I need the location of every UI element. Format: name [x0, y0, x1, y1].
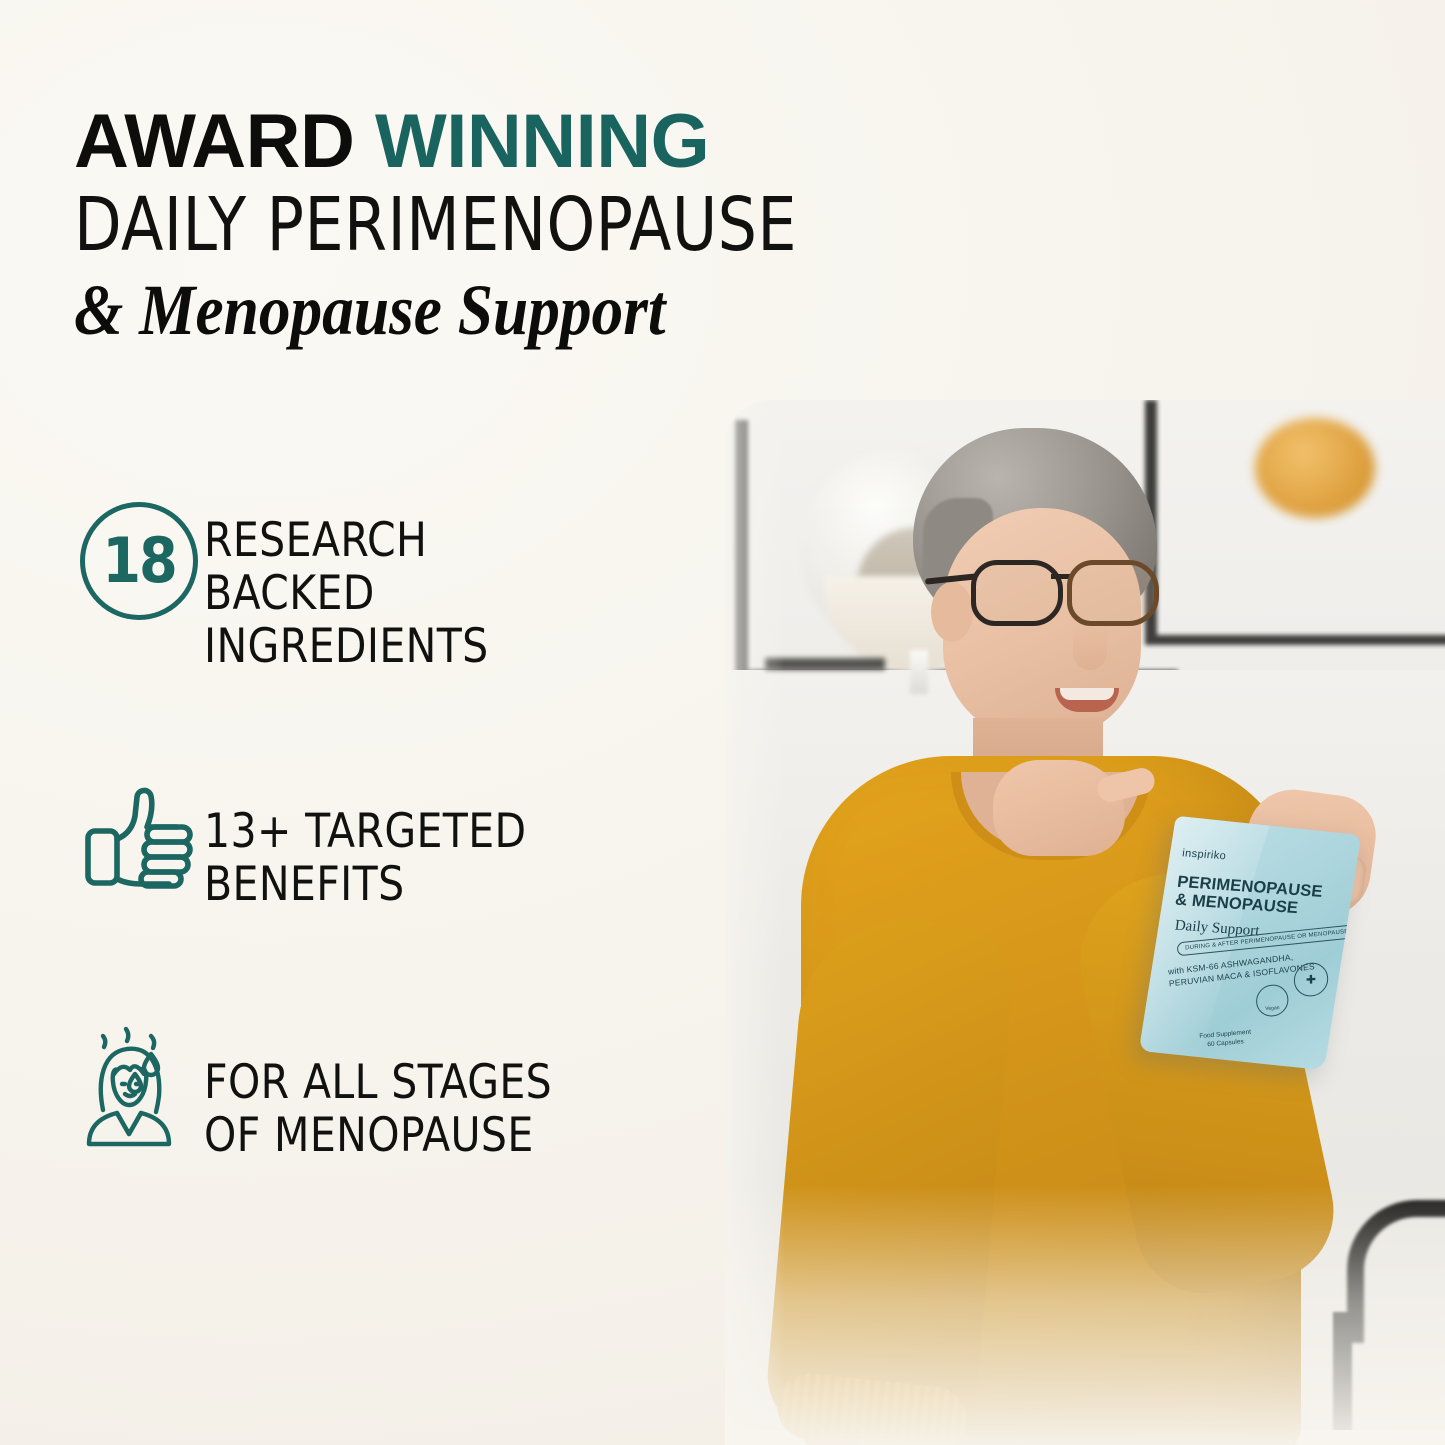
left-hand — [993, 760, 1125, 856]
feature-item-research-backed-ingredients: 18 RESEARCH BACKED INGREDIENTS — [74, 498, 694, 673]
marketing-banner: AWARD WINNING DAILY PERIMENOPAUSE & Meno… — [0, 0, 1445, 1445]
feature-item-targeted-benefits: 13+ TARGETED BENEFITS — [74, 779, 694, 911]
headline-winning-text: WINNING — [375, 99, 709, 184]
headline-award-text: AWARD — [74, 99, 375, 184]
eyeglasses-icon — [971, 560, 1157, 620]
feature-label: FOR ALL STAGES OF MENOPAUSE — [204, 1018, 552, 1162]
number-badge-18-icon: 18 — [74, 498, 204, 620]
uk-badge-icon: ✚ — [1294, 962, 1329, 998]
woman-hot-flush-icon — [74, 1018, 204, 1148]
ear — [931, 582, 973, 642]
thumbs-up-icon — [74, 779, 204, 891]
glasses-lens-right — [1067, 560, 1159, 626]
product-pouch[interactable]: inspiriko PERIMENOPAUSE & MENOPAUSE Dail… — [1139, 816, 1361, 1071]
product-footer: Food Supplement 60 Capsules — [1199, 1028, 1251, 1050]
headline-line-3: & Menopause Support — [74, 274, 998, 346]
headline-line-1: AWARD WINNING — [74, 104, 1124, 180]
feature-label: 13+ TARGETED BENEFITS — [204, 779, 527, 911]
vegan-badge-icon: Vegan — [1256, 984, 1289, 1018]
teeth — [1060, 688, 1114, 700]
lifestyle-photo: inspiriko PERIMENOPAUSE & MENOPAUSE Dail… — [725, 400, 1445, 1445]
glasses-lens-left — [971, 560, 1063, 626]
badge-18-value: 18 — [102, 530, 176, 592]
feature-label: RESEARCH BACKED INGREDIENTS — [204, 498, 489, 673]
nose — [1073, 622, 1107, 670]
headline-block: AWARD WINNING DAILY PERIMENOPAUSE & Meno… — [74, 104, 1124, 346]
feature-item-all-stages-of-menopause: FOR ALL STAGES OF MENOPAUSE — [74, 1018, 694, 1162]
feature-list: 18 RESEARCH BACKED INGREDIENTS 13+ TARGE… — [74, 498, 694, 1162]
headline-line-2: DAILY PERIMENOPAUSE — [74, 186, 1051, 266]
